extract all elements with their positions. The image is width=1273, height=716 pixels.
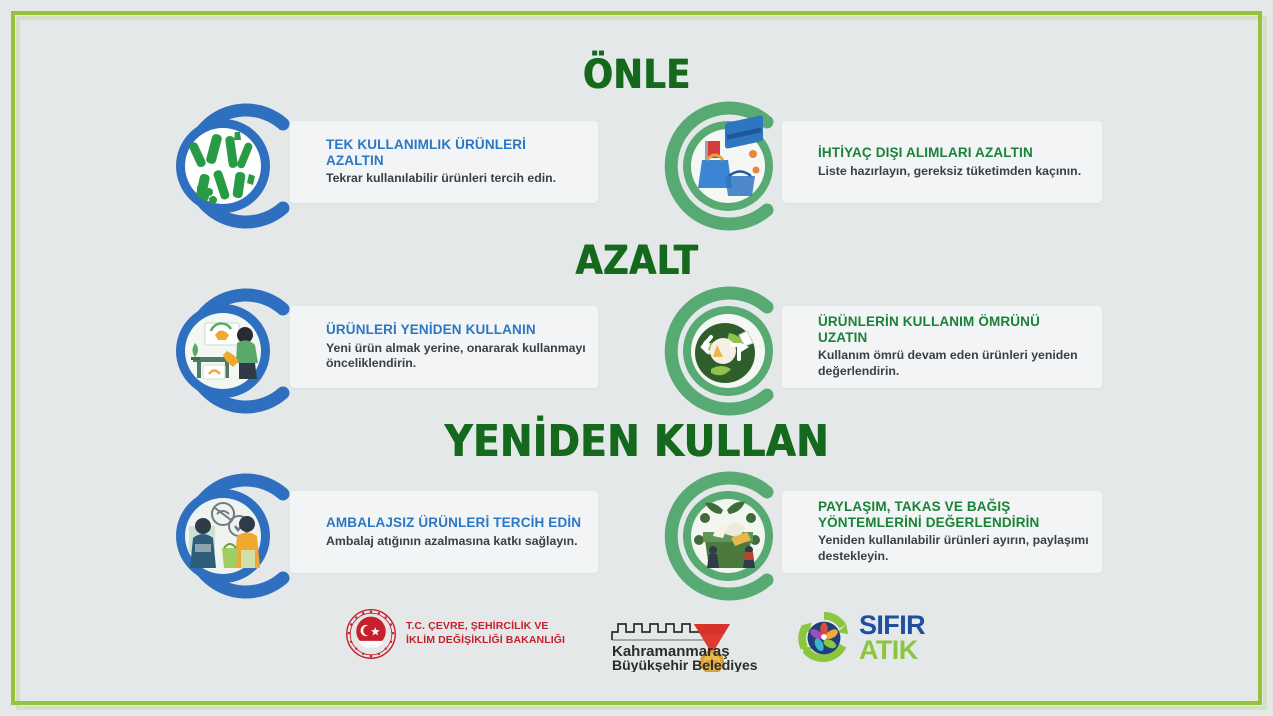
castle-battlement-medal-icon: Kahramanmaraş Büyükşehir Belediyesi [608,610,758,672]
section-title-azalt: AZALT [76,238,1196,284]
tip-card-extend-lifespan[interactable]: ÜRÜNLERİN KULLANIM ÖMRÜNÜ UZATIN Kullanı… [655,285,1105,415]
tip-card-unnecessary-purchases[interactable]: İHTİYAÇ DIŞI ALIMLARI AZALTIN Liste hazı… [655,100,1105,230]
donation-box-icon [655,466,793,604]
tip-card-subtext: Yeniden kullanılabilir ürünleri ayırın, … [818,534,1090,565]
section-title-onle: ÖNLE [76,52,1196,98]
ministry-logo: T.C. ÇEVRE, ŞEHİRCİLİK VE İKLİM DEĞİŞİKL… [345,608,565,660]
recycling-globe-icon [655,281,793,419]
tip-card-panel: ÜRÜNLERİ YENİDEN KULLANIN Yeni ürün alma… [290,306,598,388]
package-free-shopping-icon [165,466,303,604]
tip-card-heading: ÜRÜNLERİ YENİDEN KULLANIN [326,322,586,338]
footer-logos: T.C. ÇEVRE, ŞEHİRCİLİK VE İKLİM DEĞİŞİKL… [0,600,1273,686]
tip-card-subtext: Ambalaj atığının azalmasına katkı sağlay… [326,534,586,550]
tip-card-subtext: Tekrar kullanılabilir ürünleri tercih ed… [326,171,586,187]
tip-row-azalt: ÜRÜNLERİ YENİDEN KULLANIN Yeni ürün alma… [0,285,1273,415]
tip-card-panel: PAYLAŞIM, TAKAS VE BAĞIŞ YÖNTEMLERİNİ DE… [782,491,1102,573]
tip-card-share-swap-donate[interactable]: PAYLAŞIM, TAKAS VE BAĞIŞ YÖNTEMLERİNİ DE… [655,470,1105,600]
turkish-ministry-seal-icon [345,608,397,660]
ministry-logo-text: T.C. ÇEVRE, ŞEHİRCİLİK VE İKLİM DEĞİŞİKL… [406,620,565,648]
poster-canvas: ÖNLE AZALT YENİDEN KULLAN TEK KULLANIMLI… [0,0,1273,716]
tip-card-subtext: Liste hazırlayın, gereksiz tüketimden ka… [818,164,1090,180]
tip-card-heading: İHTİYAÇ DIŞI ALIMLARI AZALTIN [818,145,1090,161]
zero-waste-logo: SIFIR ATIK [795,609,925,667]
ministry-name-line-1: T.C. ÇEVRE, ŞEHİRCİLİK VE [406,620,565,634]
shopping-bags-icon [655,96,793,234]
tip-card-panel: TEK KULLANIMLIK ÜRÜNLERİ AZALTIN Tekrar … [290,121,598,203]
tip-card-reuse-products[interactable]: ÜRÜNLERİ YENİDEN KULLANIN Yeni ürün alma… [165,285,605,415]
tip-card-package-free[interactable]: AMBALAJSIZ ÜRÜNLERİ TERCİH EDİN Ambalaj … [165,470,605,600]
tip-card-subtext: Kullanım ömrü devam eden ürünleri yenide… [818,349,1090,380]
repair-sewing-icon [165,281,303,419]
municipality-name-line-2: Büyükşehir Belediyesi [612,657,758,672]
zero-waste-recycle-flower-icon [795,609,853,667]
tip-card-heading: TEK KULLANIMLIK ÜRÜNLERİ AZALTIN [326,137,586,168]
section-title-yeniden: YENİDEN KULLAN [76,416,1196,467]
ministry-name-line-2: İKLİM DEĞİŞİKLİĞİ BAKANLIĞI [406,634,565,648]
tip-card-panel: İHTİYAÇ DIŞI ALIMLARI AZALTIN Liste hazı… [782,121,1102,203]
tip-card-heading: ÜRÜNLERİN KULLANIM ÖMRÜNÜ UZATIN [818,314,1090,345]
tip-row-onle: TEK KULLANIMLIK ÜRÜNLERİ AZALTIN Tekrar … [0,100,1273,230]
tip-card-heading: AMBALAJSIZ ÜRÜNLERİ TERCİH EDİN [326,515,586,531]
zero-waste-word-atik: ATIK [859,638,925,663]
tip-card-single-use[interactable]: TEK KULLANIMLIK ÜRÜNLERİ AZALTIN Tekrar … [165,100,605,230]
single-use-plastics-icon [165,96,303,234]
tip-card-heading: PAYLAŞIM, TAKAS VE BAĞIŞ YÖNTEMLERİNİ DE… [818,499,1090,530]
zero-waste-wordmark: SIFIR ATIK [859,613,925,663]
tip-card-subtext: Yeni ürün almak yerine, onararak kullanm… [326,341,586,372]
tip-card-panel: ÜRÜNLERİN KULLANIM ÖMRÜNÜ UZATIN Kullanı… [782,306,1102,388]
tip-row-yeniden-kullan: AMBALAJSIZ ÜRÜNLERİ TERCİH EDİN Ambalaj … [0,470,1273,600]
tip-card-panel: AMBALAJSIZ ÜRÜNLERİ TERCİH EDİN Ambalaj … [290,491,598,573]
municipality-logo: Kahramanmaraş Büyükşehir Belediyesi [608,610,758,672]
